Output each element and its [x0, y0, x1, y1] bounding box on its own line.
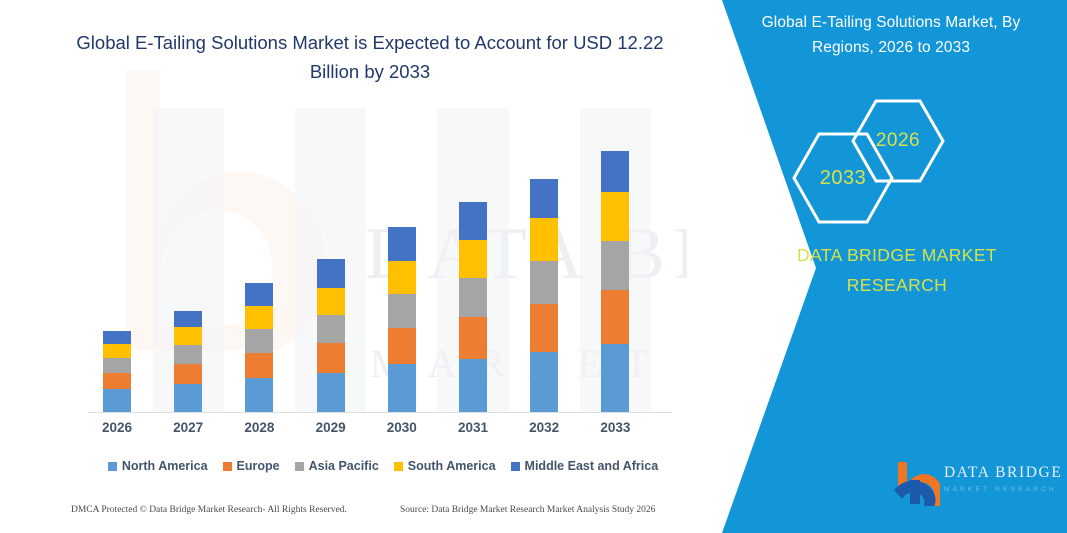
bar-2028[interactable] [245, 283, 273, 413]
legend-item-middle-east-and-africa[interactable]: Middle East and Africa [511, 459, 659, 473]
bar-segment-middle-east-and-africa [530, 179, 558, 218]
legend-label: Middle East and Africa [525, 459, 659, 473]
legend-item-north-america[interactable]: North America [108, 459, 208, 473]
legend-label: South America [408, 459, 496, 473]
bar-segment-north-america [459, 359, 487, 413]
chart-legend: North AmericaEuropeAsia PacificSouth Ame… [88, 456, 678, 476]
bar-segment-europe [317, 343, 345, 373]
bar-segment-europe [245, 353, 273, 378]
bar-segment-europe [459, 317, 487, 359]
bar-segment-asia-pacific [601, 241, 629, 290]
bar-segment-asia-pacific [317, 315, 345, 343]
x-axis-label-2029: 2029 [303, 420, 359, 435]
bar-segment-europe [601, 290, 629, 344]
legend-item-europe[interactable]: Europe [223, 459, 280, 473]
bar-2030[interactable] [388, 227, 416, 413]
bar-segment-asia-pacific [459, 278, 487, 317]
footer: DMCA Protected © Data Bridge Market Rese… [0, 505, 700, 525]
bar-segment-north-america [103, 389, 131, 413]
panel-brand-line1: DATA BRIDGE MARKET [727, 240, 1067, 270]
bar-segment-south-america [459, 240, 487, 278]
x-axis-label-2027: 2027 [160, 420, 216, 435]
x-axis-label-2032: 2032 [516, 420, 572, 435]
legend-item-south-america[interactable]: South America [394, 459, 496, 473]
bar-segment-north-america [174, 384, 202, 413]
hexagon-badge-2033: 2033 [790, 131, 896, 225]
bar-segment-south-america [317, 288, 345, 315]
bar-2031[interactable] [459, 202, 487, 413]
bar-segment-middle-east-and-africa [245, 283, 273, 306]
data-bridge-logo-icon [892, 460, 940, 506]
bar-2033[interactable] [601, 151, 629, 413]
bar-2032[interactable] [530, 179, 558, 413]
bar-segment-middle-east-and-africa [103, 331, 131, 344]
bar-segment-middle-east-and-africa [459, 202, 487, 240]
x-axis-label-2031: 2031 [445, 420, 501, 435]
legend-swatch [295, 462, 304, 471]
legend-swatch [511, 462, 520, 471]
bar-segment-south-america [530, 218, 558, 261]
bar-segment-europe [388, 328, 416, 364]
bar-segment-north-america [388, 364, 416, 413]
chart-panel: DATA BRIDGE MARKET RESEARCH Global E-Tai… [0, 0, 720, 533]
bar-segment-middle-east-and-africa [388, 227, 416, 261]
bar-segment-europe [103, 373, 131, 389]
bar-segment-asia-pacific [530, 261, 558, 304]
bar-segment-south-america [245, 306, 273, 329]
bar-segment-north-america [530, 352, 558, 413]
legend-item-asia-pacific[interactable]: Asia Pacific [295, 459, 379, 473]
brand-logo-tagline: MARKET RESEARCH [944, 484, 1062, 496]
bar-segment-europe [530, 304, 558, 352]
stacked-bar-chart [88, 108, 666, 413]
bar-segment-asia-pacific [388, 294, 416, 328]
page-title: Global E-Tailing Solutions Market is Exp… [60, 28, 680, 86]
bar-segment-south-america [103, 344, 131, 358]
x-axis-label-2030: 2030 [374, 420, 430, 435]
legend-label: Europe [237, 459, 280, 473]
footer-copyright: DMCA Protected © Data Bridge Market Rese… [71, 505, 347, 515]
bar-segment-asia-pacific [103, 358, 131, 373]
panel-brand-words: DATA BRIDGE MARKET RESEARCH [687, 240, 1067, 300]
bar-2029[interactable] [317, 259, 345, 413]
bar-segment-middle-east-and-africa [174, 311, 202, 327]
bar-segment-europe [174, 364, 202, 384]
x-axis-label-2028: 2028 [231, 420, 287, 435]
hexagon-badge-2033-label: 2033 [790, 131, 896, 225]
bar-segment-north-america [317, 373, 345, 413]
footer-source: Source: Data Bridge Market Research Mark… [400, 505, 655, 515]
brand-logo: DATA BRIDGE MARKET RESEARCH [892, 458, 1062, 510]
bar-segment-north-america [601, 344, 629, 413]
bar-segment-asia-pacific [174, 345, 202, 364]
x-axis-line [88, 412, 672, 413]
brand-logo-name: DATA BRIDGE [944, 464, 1062, 482]
x-axis-label-2033: 2033 [587, 420, 643, 435]
panel-title: Global E-Tailing Solutions Market, By Re… [687, 10, 1067, 60]
info-panel: Global E-Tailing Solutions Market, By Re… [687, 0, 1067, 533]
legend-swatch [108, 462, 117, 471]
bar-segment-south-america [174, 327, 202, 345]
plot-area [88, 108, 666, 413]
panel-brand-line2: RESEARCH [727, 270, 1067, 300]
x-axis-labels: 20262027202820292030203120322033 [88, 420, 666, 442]
bar-2027[interactable] [174, 311, 202, 413]
legend-swatch [223, 462, 232, 471]
bar-segment-asia-pacific [245, 329, 273, 353]
bar-segment-middle-east-and-africa [601, 151, 629, 192]
bar-segment-north-america [245, 378, 273, 413]
legend-label: North America [122, 459, 208, 473]
legend-label: Asia Pacific [309, 459, 379, 473]
bar-segment-south-america [388, 261, 416, 294]
x-axis-label-2026: 2026 [89, 420, 145, 435]
bar-segment-south-america [601, 192, 629, 241]
bar-2026[interactable] [103, 331, 131, 413]
brand-logo-text: DATA BRIDGE MARKET RESEARCH [944, 464, 1062, 496]
bar-segment-middle-east-and-africa [317, 259, 345, 288]
legend-swatch [394, 462, 403, 471]
